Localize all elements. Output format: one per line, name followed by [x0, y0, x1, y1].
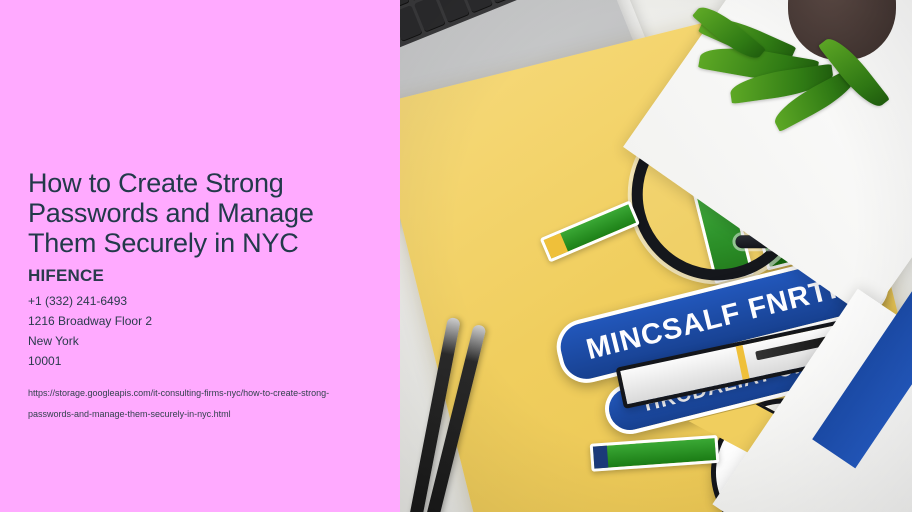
company-address-street: 1216 Broadway Floor 2: [28, 311, 388, 331]
marker-cap-2: [593, 446, 609, 469]
pen-split: [736, 345, 750, 380]
green-marker-icon: [540, 200, 640, 262]
marker-cap: [544, 233, 568, 258]
company-name: HIFENCE: [28, 266, 388, 286]
green-marker-icon-2: [590, 435, 720, 472]
company-phone: +1 (332) 241-6493: [28, 291, 388, 311]
left-info-panel: How to Create Strong Passwords and Manag…: [0, 0, 400, 512]
source-url: https://storage.googleapis.com/it-consul…: [28, 383, 333, 425]
photo-panel: MINCSALF FNRTIA HRCDALIAT CPINY: [400, 0, 912, 512]
company-address-zip: 10001: [28, 351, 388, 371]
poster-page: How to Create Strong Passwords and Manag…: [0, 0, 912, 512]
page-title: How to Create Strong Passwords and Manag…: [28, 168, 388, 258]
company-address-city: New York: [28, 331, 388, 351]
text-block: How to Create Strong Passwords and Manag…: [28, 168, 388, 425]
